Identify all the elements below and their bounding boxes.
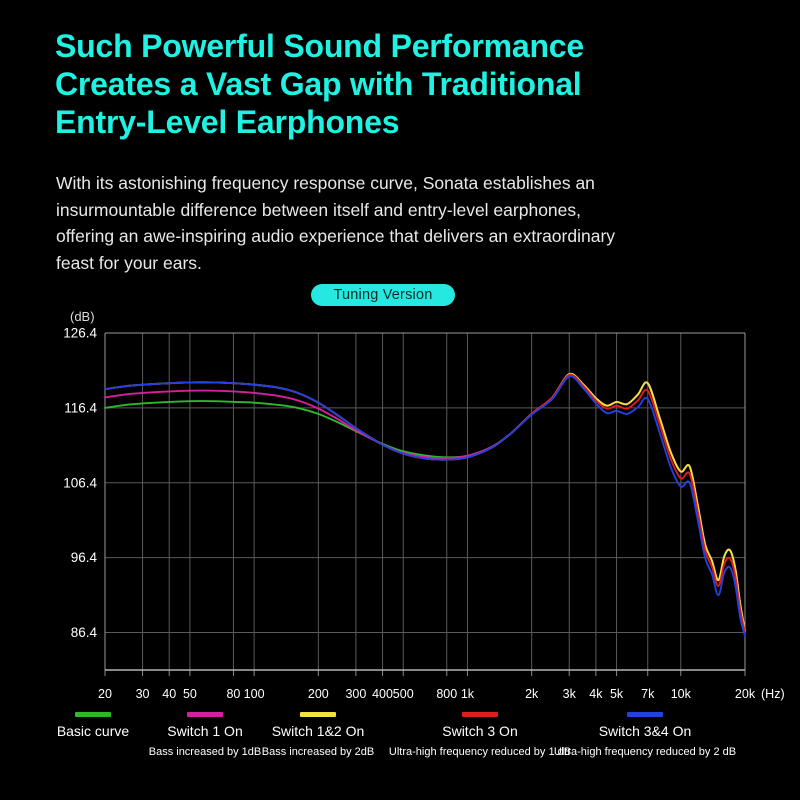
curve-switch-3-on <box>105 375 745 633</box>
x-axis-tick-label: 20 <box>98 687 112 701</box>
chart-svg: (dB)126.4116.4106.496.486.42030405080100… <box>0 300 800 720</box>
y-axis-unit-label: (dB) <box>70 309 95 324</box>
x-axis-tick-label: 500 <box>393 687 414 701</box>
legend-color-swatch <box>462 712 498 717</box>
description-paragraph: With its astonishing frequency response … <box>56 170 756 276</box>
x-axis-unit-label: (Hz) <box>761 687 785 701</box>
curve-switch-3-4-on <box>105 376 745 636</box>
legend-color-swatch <box>187 712 223 717</box>
curve-basic-curve <box>105 374 745 631</box>
x-axis-tick-label: 300 <box>345 687 366 701</box>
y-axis-tick-label: 116.4 <box>64 400 97 415</box>
blurb-line-1: With its astonishing frequency response … <box>56 170 756 197</box>
x-axis-tick-label: 2k <box>525 687 539 701</box>
legend-color-swatch <box>75 712 111 717</box>
headline-line-1: Such Powerful Sound Performance <box>55 28 755 66</box>
x-axis-tick-label: 200 <box>308 687 329 701</box>
x-axis-tick-label: 80 <box>226 687 240 701</box>
blurb-line-3: offering an awe-inspiring audio experien… <box>56 223 756 250</box>
y-axis-tick-label: 126.4 <box>63 326 97 341</box>
x-axis-tick-label: 40 <box>162 687 176 701</box>
blurb-line-2: insurmountable difference between itself… <box>56 197 756 224</box>
x-axis-tick-label: 4k <box>589 687 603 701</box>
legend-color-swatch <box>300 712 336 717</box>
chart-legend: Basic curveSwitch 1 OnBass increased by … <box>0 712 800 792</box>
blurb-line-4: feast for your ears. <box>56 250 756 277</box>
legend-color-swatch <box>627 712 663 717</box>
curve-switch-1-on <box>105 374 745 631</box>
promo-page: Such Powerful Sound Performance Creates … <box>0 0 800 800</box>
legend-item-description: Ultra-high frequency reduced by 2 dB <box>505 745 785 759</box>
x-axis-tick-label: 1k <box>461 687 475 701</box>
legend-item-label: Switch 3&4 On <box>505 723 785 739</box>
page-title: Such Powerful Sound Performance Creates … <box>55 28 755 141</box>
y-axis-tick-label: 96.4 <box>71 550 98 565</box>
y-axis-tick-label: 106.4 <box>63 475 97 490</box>
legend-item: Switch 3&4 OnUltra-high frequency reduce… <box>505 712 785 759</box>
curve-switch-1-2-on <box>105 374 745 631</box>
x-axis-tick-label: 10k <box>671 687 692 701</box>
headline-line-2: Creates a Vast Gap with Traditional <box>55 66 755 104</box>
frequency-response-chart: (dB)126.4116.4106.496.486.42030405080100… <box>0 300 800 720</box>
x-axis-tick-label: 400 <box>372 687 393 701</box>
x-axis-tick-label: 3k <box>563 687 577 701</box>
x-axis-tick-label: 7k <box>641 687 655 701</box>
headline-line-3: Entry-Level Earphones <box>55 104 755 142</box>
x-axis-tick-label: 50 <box>183 687 197 701</box>
x-axis-tick-label: 800 <box>436 687 457 701</box>
x-axis-tick-label: 30 <box>136 687 150 701</box>
y-axis-tick-label: 86.4 <box>71 625 98 640</box>
x-axis-tick-label: 5k <box>610 687 624 701</box>
x-axis-tick-label: 100 <box>244 687 265 701</box>
x-axis-tick-label: 20k <box>735 687 756 701</box>
